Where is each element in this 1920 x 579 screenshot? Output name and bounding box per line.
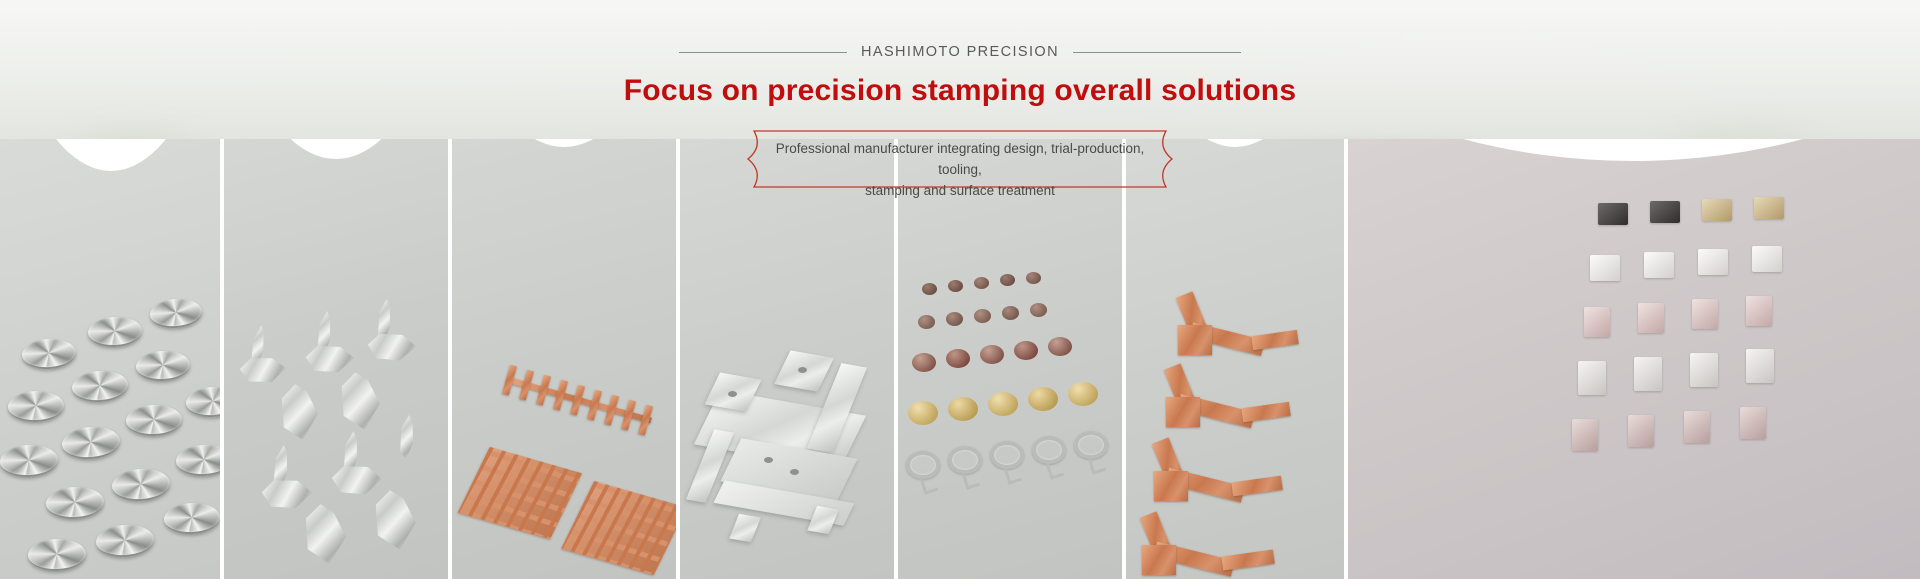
part-clip xyxy=(300,502,350,565)
hero-headline: Focus on precision stamping overall solu… xyxy=(0,74,1920,108)
eyebrow-rule-right xyxy=(1073,52,1241,53)
part-snap-ring xyxy=(948,446,982,474)
part-bracket-hole xyxy=(790,469,799,475)
part-clip xyxy=(337,371,384,431)
part-disc xyxy=(135,350,190,383)
part-contact-button xyxy=(946,312,963,326)
part-spring-arm xyxy=(1241,402,1290,423)
part-shield-can xyxy=(1644,252,1674,278)
subtitle-text: Professional manufacturer integrating de… xyxy=(740,130,1180,211)
subtitle-line-1: Professional manufacturer integrating de… xyxy=(766,139,1154,181)
part-clip xyxy=(331,463,383,497)
part-spring-base xyxy=(1142,545,1176,575)
part-copper-ladder xyxy=(561,481,678,575)
part-brass-button xyxy=(948,397,978,421)
part-contact-button xyxy=(946,349,970,368)
part-disc xyxy=(175,444,222,478)
part-clip xyxy=(261,476,314,511)
part-contact-button xyxy=(912,353,936,372)
eyebrow: HASHIMOTO PRECISION xyxy=(0,44,1920,60)
part-board-clip xyxy=(1692,299,1718,329)
part-disc xyxy=(21,337,77,371)
part-contact-button xyxy=(1014,341,1038,360)
part-brass-button xyxy=(908,401,938,425)
part-contact-button xyxy=(1048,337,1072,356)
part-spring-arm xyxy=(1251,330,1299,350)
part-clip xyxy=(371,489,420,552)
part-clip xyxy=(239,355,287,386)
part-clip xyxy=(305,343,355,375)
hero-banner: HASHIMOTO PRECISION Focus on precision s… xyxy=(0,0,1920,579)
part-contact-button xyxy=(1026,272,1041,284)
part-board-clip xyxy=(1690,353,1718,387)
part-spring-base xyxy=(1178,325,1212,355)
part-ring-tail xyxy=(1046,460,1064,480)
part-disc xyxy=(111,467,171,503)
part-spring-base xyxy=(1154,471,1188,501)
part-board-clip xyxy=(1740,407,1766,439)
hero-copy: HASHIMOTO PRECISION Focus on precision s… xyxy=(0,44,1920,211)
part-disc xyxy=(61,425,122,462)
part-contact-button xyxy=(1000,274,1015,286)
part-clip xyxy=(276,383,321,442)
part-bracket-foot-left xyxy=(729,514,761,542)
part-ring-tail xyxy=(1004,465,1022,485)
part-snap-ring xyxy=(906,451,940,479)
brand-name: HASHIMOTO PRECISION xyxy=(861,44,1059,60)
part-board-clip xyxy=(1628,415,1654,447)
eyebrow-rule-left xyxy=(679,52,847,53)
subtitle-line-2: stamping and surface treatment xyxy=(766,181,1154,202)
part-disc xyxy=(149,297,203,330)
part-disc xyxy=(125,404,182,437)
part-board-clip xyxy=(1746,349,1774,383)
part-contact-button xyxy=(980,345,1004,364)
part-board-clip xyxy=(1684,411,1710,443)
part-bracket-hole xyxy=(764,457,773,463)
part-board-clip xyxy=(1746,296,1772,326)
part-board-clip xyxy=(1634,357,1662,391)
part-shield-can xyxy=(1590,255,1620,281)
part-contact-button xyxy=(974,277,989,289)
part-disc xyxy=(163,502,221,536)
part-disc xyxy=(185,385,222,419)
part-bracket-hole xyxy=(728,391,737,397)
part-contact-button xyxy=(948,280,963,292)
part-clip xyxy=(367,331,417,362)
part-brass-button xyxy=(1068,382,1098,406)
part-board-clip xyxy=(1638,303,1664,333)
part-board-clip xyxy=(1578,361,1606,395)
part-contact-button xyxy=(1002,306,1019,320)
part-ring-tail xyxy=(1088,455,1106,475)
part-board-clip xyxy=(1572,419,1598,451)
part-spring-arm xyxy=(1221,549,1274,570)
part-clip xyxy=(397,414,418,460)
subtitle-box: Professional manufacturer integrating de… xyxy=(740,130,1180,211)
part-contact-button xyxy=(974,309,991,323)
part-disc xyxy=(95,523,155,559)
part-disc xyxy=(71,369,129,404)
part-board-clip xyxy=(1584,307,1610,337)
part-ring-tail xyxy=(962,470,980,490)
part-spring-base xyxy=(1166,397,1200,427)
part-shield-can xyxy=(1698,249,1728,275)
part-spring-arm xyxy=(1231,476,1282,497)
part-disc xyxy=(27,538,86,572)
part-contact-button xyxy=(918,315,935,329)
part-copper-ladder xyxy=(458,447,582,539)
part-bracket-hole xyxy=(798,367,807,373)
part-brass-button xyxy=(1028,387,1058,411)
part-snap-ring xyxy=(1032,436,1066,464)
part-snap-ring xyxy=(990,441,1024,469)
part-ring-tail xyxy=(920,475,938,495)
part-shield-can xyxy=(1752,246,1782,272)
part-disc xyxy=(0,444,59,479)
part-brass-button xyxy=(988,392,1018,416)
part-disc xyxy=(87,316,142,349)
part-disc xyxy=(7,390,64,423)
part-contact-button xyxy=(922,283,937,295)
part-disc xyxy=(45,486,105,521)
part-snap-ring xyxy=(1074,431,1108,459)
part-contact-button xyxy=(1030,303,1047,317)
